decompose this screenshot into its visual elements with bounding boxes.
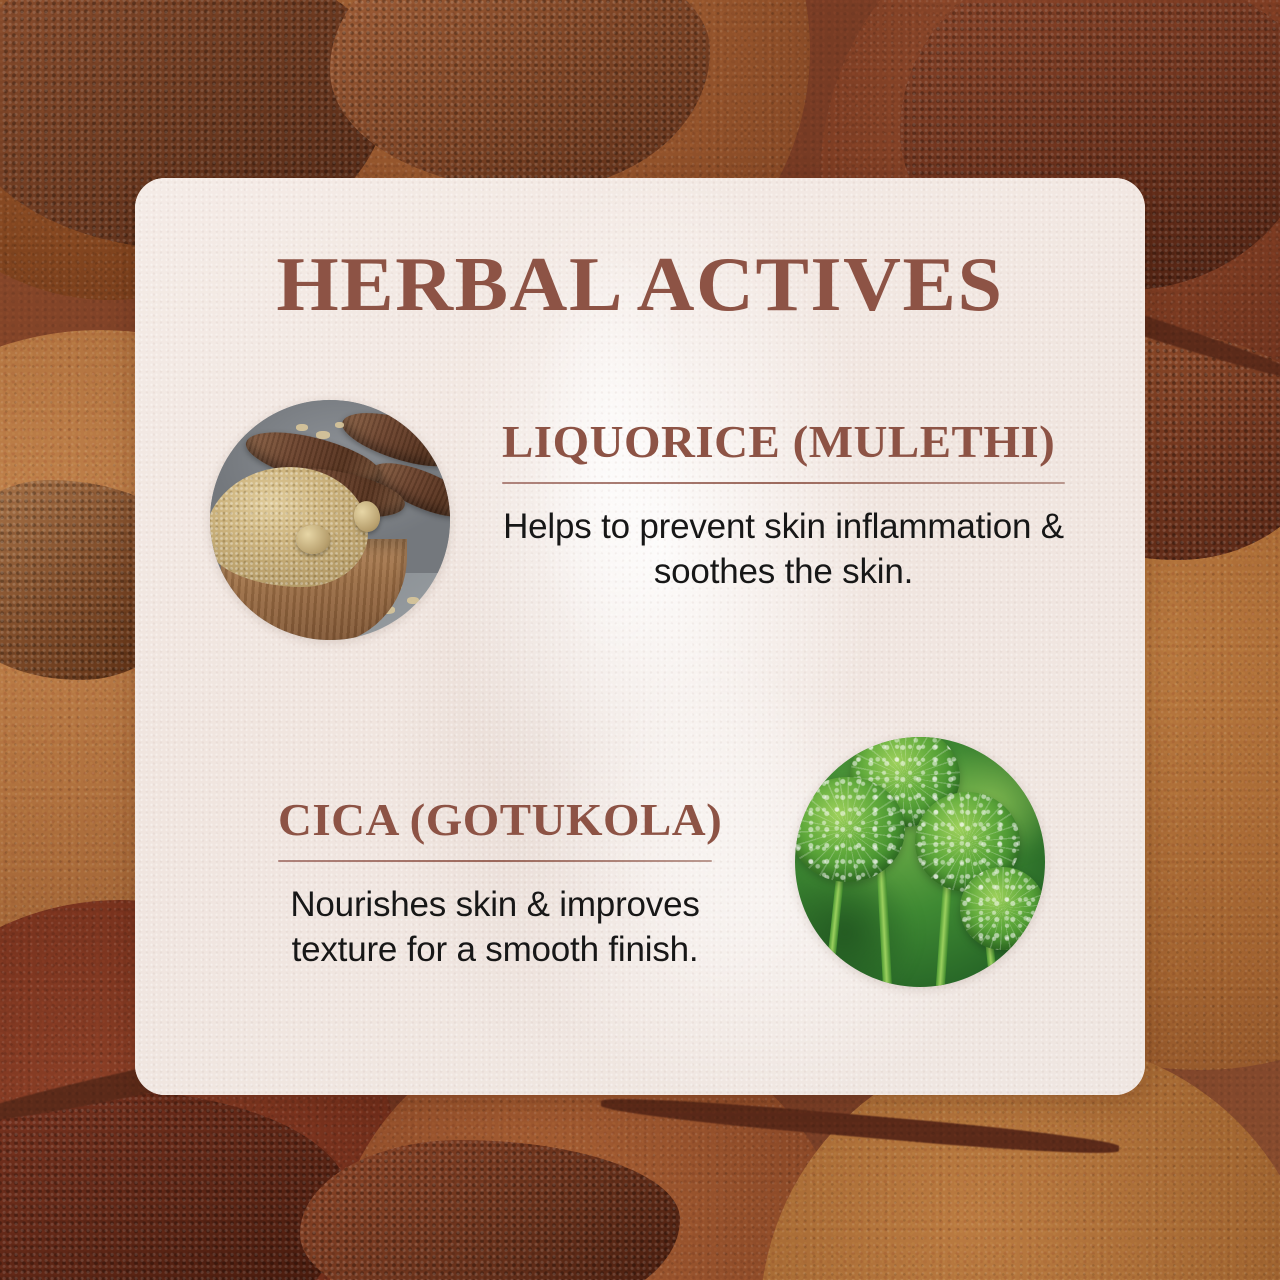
powder-crumb <box>407 597 419 604</box>
ingredient-description: Helps to prevent skin inflammation & soo… <box>502 505 1065 595</box>
content-card: HERBAL ACTIVES <box>135 178 1145 1095</box>
ingredient-description: Nourishes skin & improves texture for a … <box>278 883 712 973</box>
powder-crumb <box>316 431 330 439</box>
ingredient-block-liquorice: LIQUORICE (MULETHI) Helps to prevent ski… <box>502 415 1082 595</box>
heading-divider <box>278 860 712 862</box>
infographic-stage: HERBAL ACTIVES <box>0 0 1280 1280</box>
page-title: HERBAL ACTIVES <box>135 240 1145 329</box>
cica-photo <box>795 737 1045 987</box>
gotukola-leaf <box>795 777 905 882</box>
powder-crumb <box>335 422 345 428</box>
liquorice-powder <box>210 467 368 587</box>
powder-crumb <box>296 424 308 431</box>
liquorice-slice <box>296 525 330 554</box>
ingredient-block-cica: CICA (GOTUKOLA) Nourishes skin & improve… <box>278 793 858 973</box>
gotukola-leaf <box>960 867 1045 950</box>
liquorice-photo-content <box>210 400 450 640</box>
cica-photo-content <box>795 737 1045 987</box>
ingredient-name: LIQUORICE (MULETHI) <box>502 415 1094 468</box>
liquorice-photo <box>210 400 450 640</box>
heading-divider <box>502 482 1065 484</box>
ingredient-name: CICA (GOTUKOLA) <box>278 793 870 846</box>
